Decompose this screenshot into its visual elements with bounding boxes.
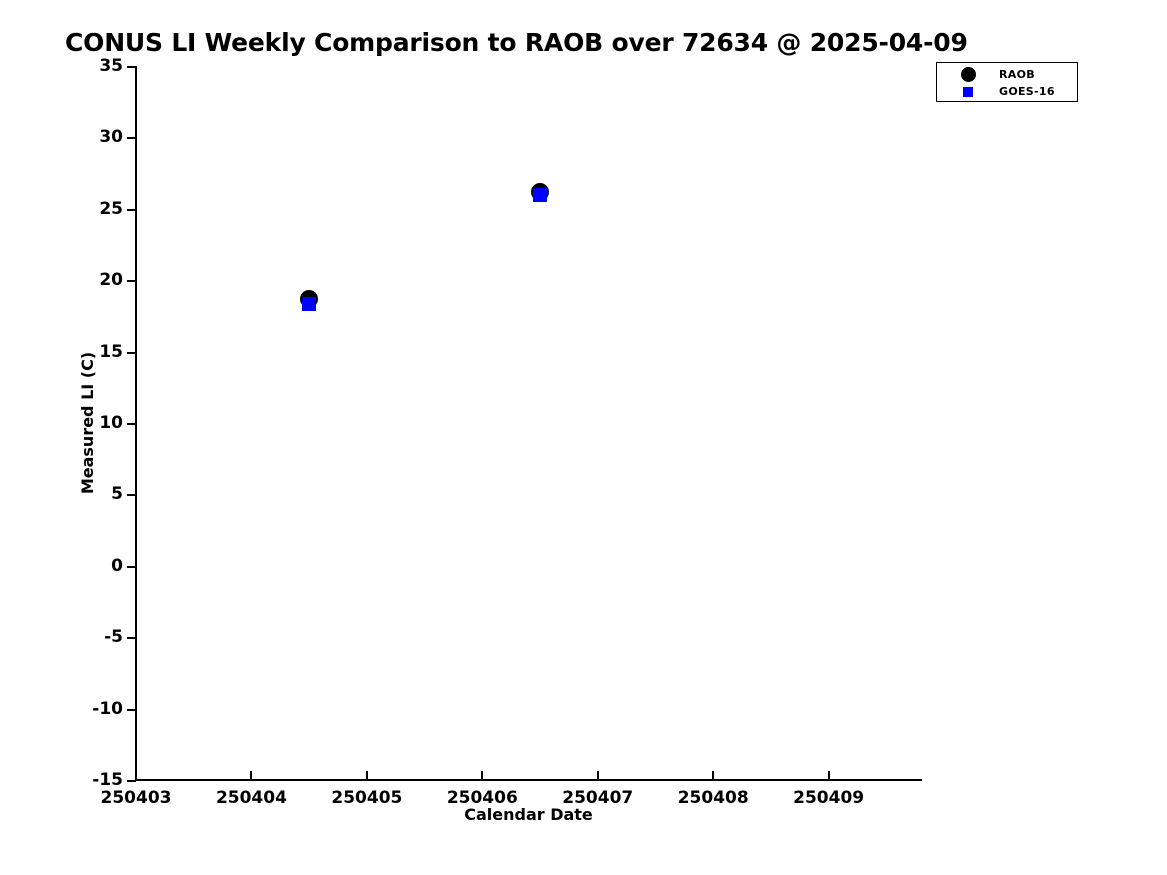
legend-item-label: RAOB — [999, 68, 1035, 81]
y-tick-mark — [127, 709, 136, 711]
x-tick-mark — [250, 771, 252, 780]
chart-figure: CONUS LI Weekly Comparison to RAOB over … — [0, 0, 1167, 875]
y-tick-mark — [127, 780, 136, 782]
data-point-goes-16 — [533, 188, 547, 202]
y-tick-mark — [127, 280, 136, 282]
y-tick-label: 5 — [111, 484, 123, 504]
legend-item-label: GOES-16 — [999, 85, 1055, 98]
plot-area: -15-10-505101520253035 25040325040425040… — [136, 66, 921, 780]
y-tick-label: 35 — [99, 56, 123, 76]
y-tick-mark — [127, 352, 136, 354]
y-tick-mark — [127, 494, 136, 496]
legend-item-goes-16: GOES-16 — [937, 82, 1077, 101]
y-tick-label: 30 — [99, 127, 123, 147]
y-tick-mark — [127, 137, 136, 139]
x-tick-mark — [597, 771, 599, 780]
y-tick-label: -15 — [92, 770, 123, 790]
y-tick-mark — [127, 66, 136, 68]
y-tick-label: 0 — [111, 556, 123, 576]
x-axis-label: Calendar Date — [136, 805, 921, 824]
y-tick-label: 25 — [99, 199, 123, 219]
chart-legend: RAOB GOES-16 — [936, 62, 1078, 102]
y-tick-mark — [127, 209, 136, 211]
y-axis-label: Measured LI (C) — [78, 273, 97, 573]
y-tick-label: 15 — [99, 342, 123, 362]
y-tick-mark — [127, 423, 136, 425]
x-tick-mark — [828, 771, 830, 780]
y-tick-label: 20 — [99, 270, 123, 290]
chart-title: CONUS LI Weekly Comparison to RAOB over … — [65, 28, 968, 57]
x-tick-mark — [135, 771, 137, 780]
filled-circle-marker-icon — [937, 67, 999, 82]
y-tick-mark — [127, 566, 136, 568]
x-tick-mark — [712, 771, 714, 780]
y-tick-label: 10 — [99, 413, 123, 433]
y-tick-mark — [127, 637, 136, 639]
filled-square-marker-icon — [937, 87, 999, 97]
data-point-goes-16 — [302, 297, 316, 311]
y-tick-label: -10 — [92, 699, 123, 719]
y-tick-label: -5 — [104, 627, 123, 647]
x-tick-mark — [366, 771, 368, 780]
x-tick-mark — [481, 771, 483, 780]
